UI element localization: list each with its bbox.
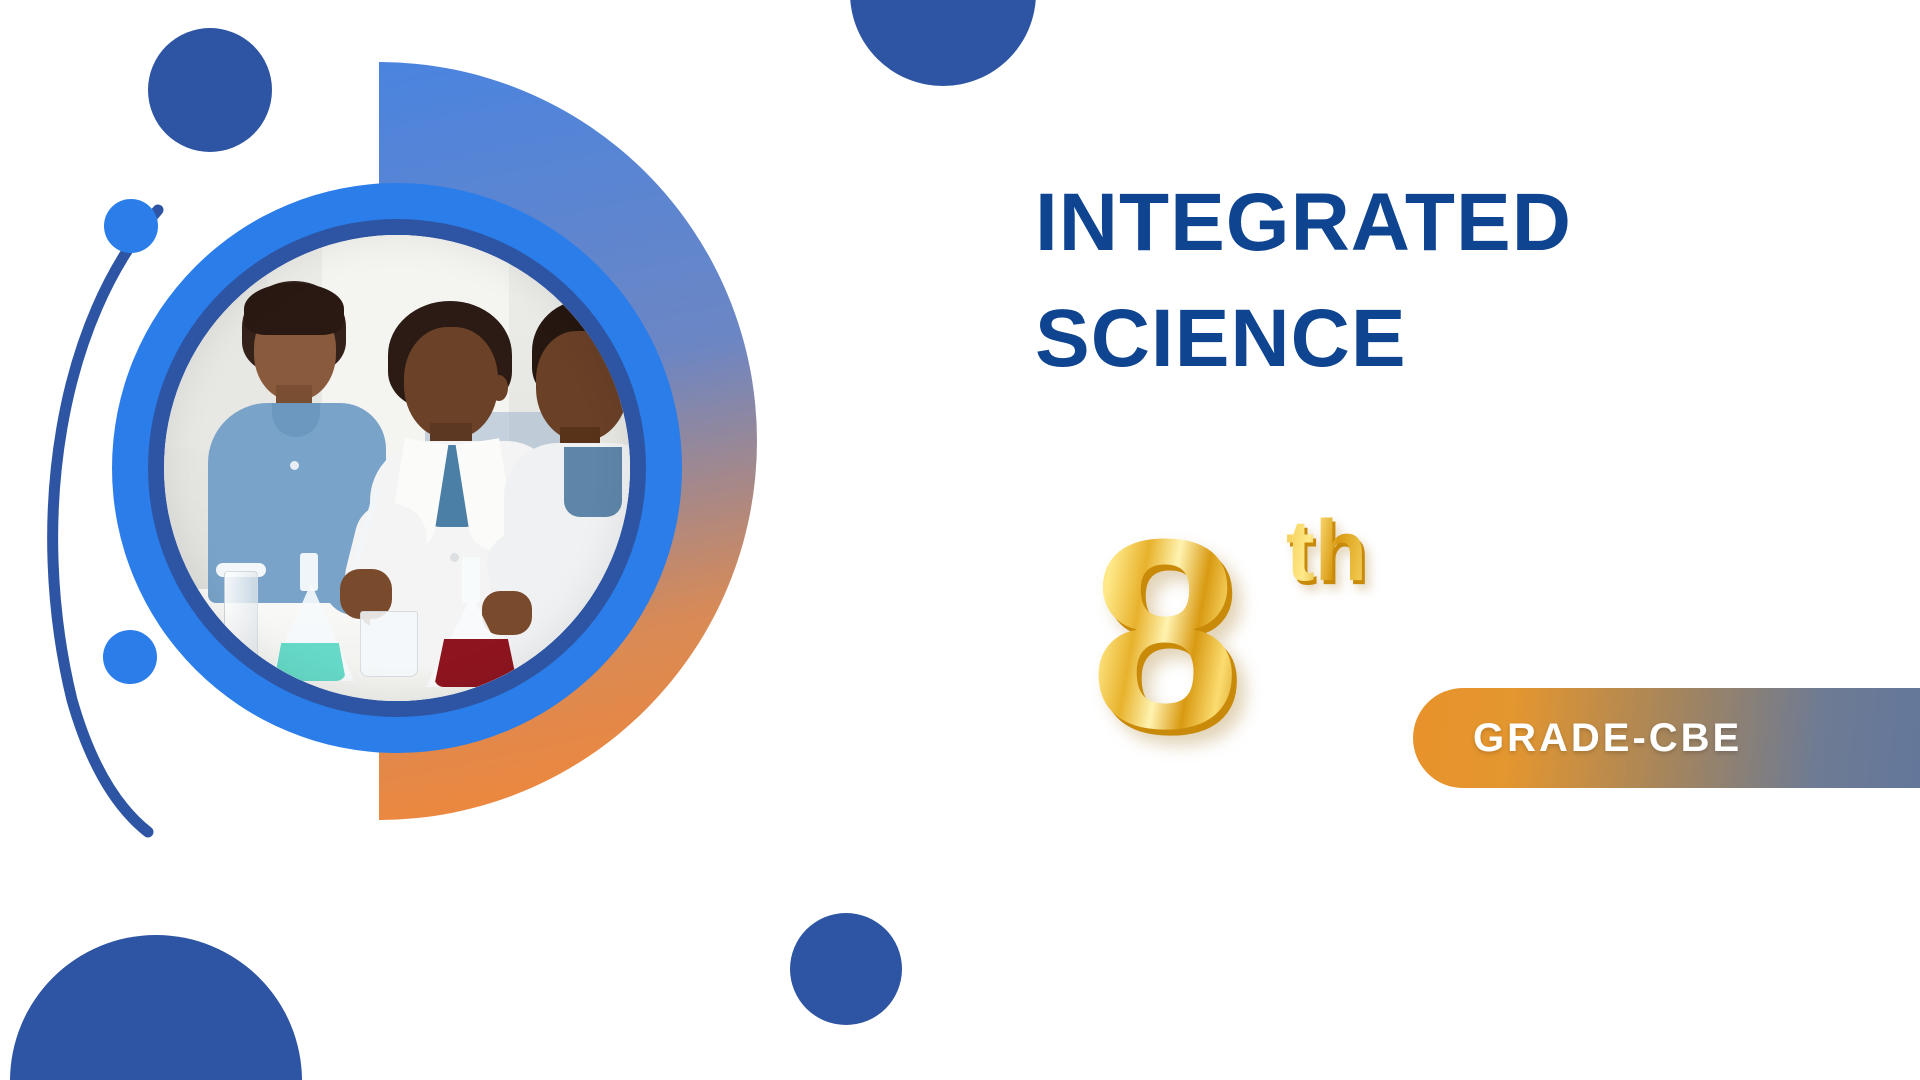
grade-badge-label: GRADE-CBE: [1473, 716, 1742, 761]
lab-photo: [164, 235, 630, 701]
course-title-line-2: SCIENCE: [1035, 281, 1795, 397]
grade-badge: GRADE-CBE: [1413, 688, 1920, 788]
grade-number-ordinal: th: [1286, 508, 1367, 594]
decor-circle-bottom-left: [10, 935, 302, 1080]
photo-vignette: [164, 235, 630, 701]
decor-circle-top-left: [148, 28, 272, 152]
decor-circle-bottom-middle: [790, 913, 902, 1025]
orbit-dot-bottom-icon: [103, 630, 157, 684]
course-title: INTEGRATED SCIENCE: [1035, 165, 1795, 398]
course-title-line-1: INTEGRATED: [1035, 165, 1795, 281]
orbit-dot-top-icon: [104, 199, 158, 253]
grade-number-digit: 8: [1090, 500, 1240, 770]
decor-circle-top-center: [850, 0, 1036, 86]
cover-slide: INTEGRATED SCIENCE 8 th GRADE-CBE: [0, 0, 1920, 1080]
